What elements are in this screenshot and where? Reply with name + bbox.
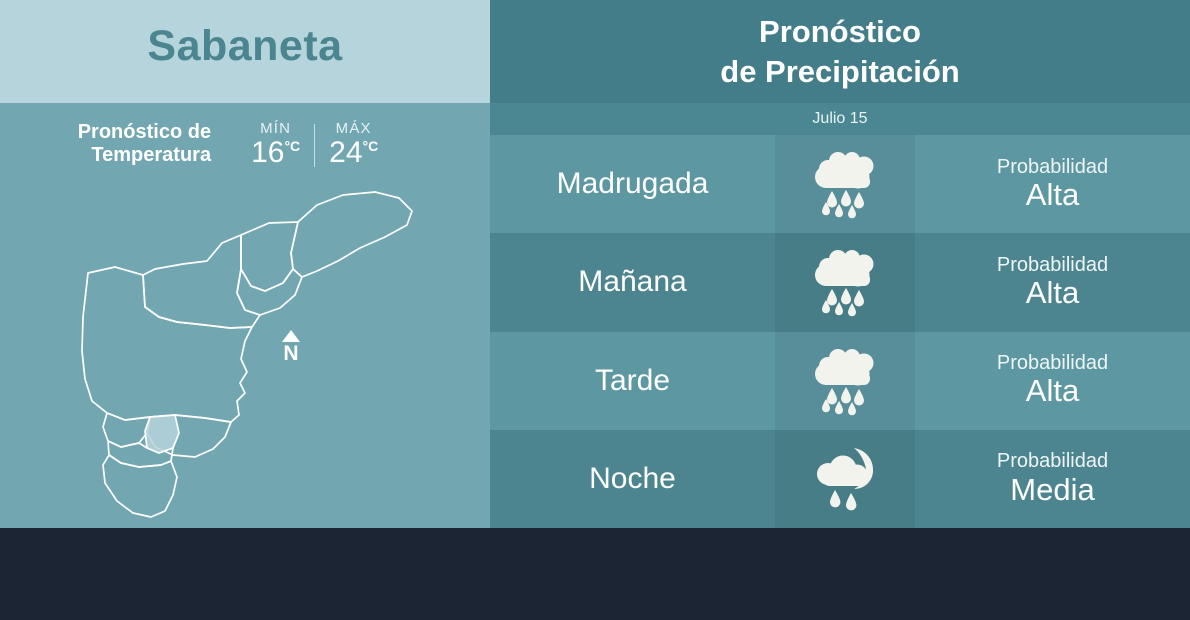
rain-cloud-icon xyxy=(802,149,888,219)
moon-rain-cloud-icon xyxy=(802,444,888,514)
temperature-label: Pronóstico de Temperatura xyxy=(78,121,211,168)
period-cell: Mañana xyxy=(490,233,775,331)
period-cell: Madrugada xyxy=(490,135,775,233)
north-arrow: N xyxy=(277,330,305,364)
probability-level: Media xyxy=(1010,473,1094,508)
weather-icon-cell xyxy=(775,430,915,528)
temperature-max-unit: °C xyxy=(363,138,379,154)
probability-level: Alta xyxy=(1026,276,1079,311)
weather-icon-cell xyxy=(775,332,915,430)
footer: Con el apoyo de: Un proyecto de: SIATA e… xyxy=(0,528,1190,620)
temperature-min-caption: MÍN xyxy=(260,120,291,137)
probability-level: Alta xyxy=(1026,374,1079,409)
temperature-forecast: Pronóstico de Temperatura MÍN 16°C MÁX 2… xyxy=(0,120,470,169)
probability-cell: Probabilidad Alta xyxy=(915,233,1190,331)
period-label: Madrugada xyxy=(557,167,709,201)
period-label: Tarde xyxy=(595,364,670,398)
period-label: Mañana xyxy=(578,265,686,299)
forecast-date: Julio 15 xyxy=(490,103,1190,135)
temperature-label-line1: Pronóstico de xyxy=(78,121,211,145)
probability-cell: Probabilidad Media xyxy=(915,430,1190,528)
north-arrow-icon xyxy=(282,330,300,342)
probability-word: Probabilidad xyxy=(997,352,1108,374)
probability-cell: Probabilidad Alta xyxy=(915,135,1190,233)
aburra-valley-map xyxy=(55,165,435,525)
period-label: Noche xyxy=(589,462,676,496)
page-title: Sabaneta xyxy=(0,22,490,71)
period-cell: Noche xyxy=(490,430,775,528)
temperature-min: MÍN 16°C xyxy=(237,120,314,169)
temperature-divider xyxy=(314,124,315,167)
left-panel: Sabaneta Pronóstico de Temperatura MÍN 1… xyxy=(0,0,490,528)
temperature-min-unit: °C xyxy=(284,138,300,154)
north-label: N xyxy=(277,343,305,364)
precipitation-title: Pronóstico de Precipitación xyxy=(490,12,1190,91)
probability-word: Probabilidad xyxy=(997,450,1108,472)
probability-word: Probabilidad xyxy=(997,254,1108,276)
table-row: Madrugada xyxy=(490,135,1190,233)
probability-level: Alta xyxy=(1026,178,1079,213)
table-row: Noche Probabilidad Me xyxy=(490,430,1190,528)
temperature-max: MÁX 24°C xyxy=(315,120,392,169)
rain-cloud-icon xyxy=(802,247,888,317)
weather-icon-cell xyxy=(775,233,915,331)
precipitation-title-line1: Pronóstico xyxy=(490,12,1190,52)
precipitation-title-line2: de Precipitación xyxy=(490,52,1190,92)
temperature-max-value: 24°C xyxy=(329,137,378,169)
period-cell: Tarde xyxy=(490,332,775,430)
probability-word: Probabilidad xyxy=(997,156,1108,178)
temperature-max-caption: MÁX xyxy=(336,120,372,137)
weather-icon-cell xyxy=(775,135,915,233)
temperature-min-value: 16°C xyxy=(251,137,300,169)
rain-cloud-icon xyxy=(802,346,888,416)
forecast-rows: Madrugada xyxy=(490,135,1190,528)
weather-infographic: Sabaneta Pronóstico de Temperatura MÍN 1… xyxy=(0,0,1190,620)
table-row: Mañana xyxy=(490,233,1190,331)
probability-cell: Probabilidad Alta xyxy=(915,332,1190,430)
table-row: Tarde xyxy=(490,332,1190,430)
right-panel: Pronóstico de Precipitación Julio 15 Mad… xyxy=(490,0,1190,528)
temperature-readings: MÍN 16°C MÁX 24°C xyxy=(237,120,392,169)
